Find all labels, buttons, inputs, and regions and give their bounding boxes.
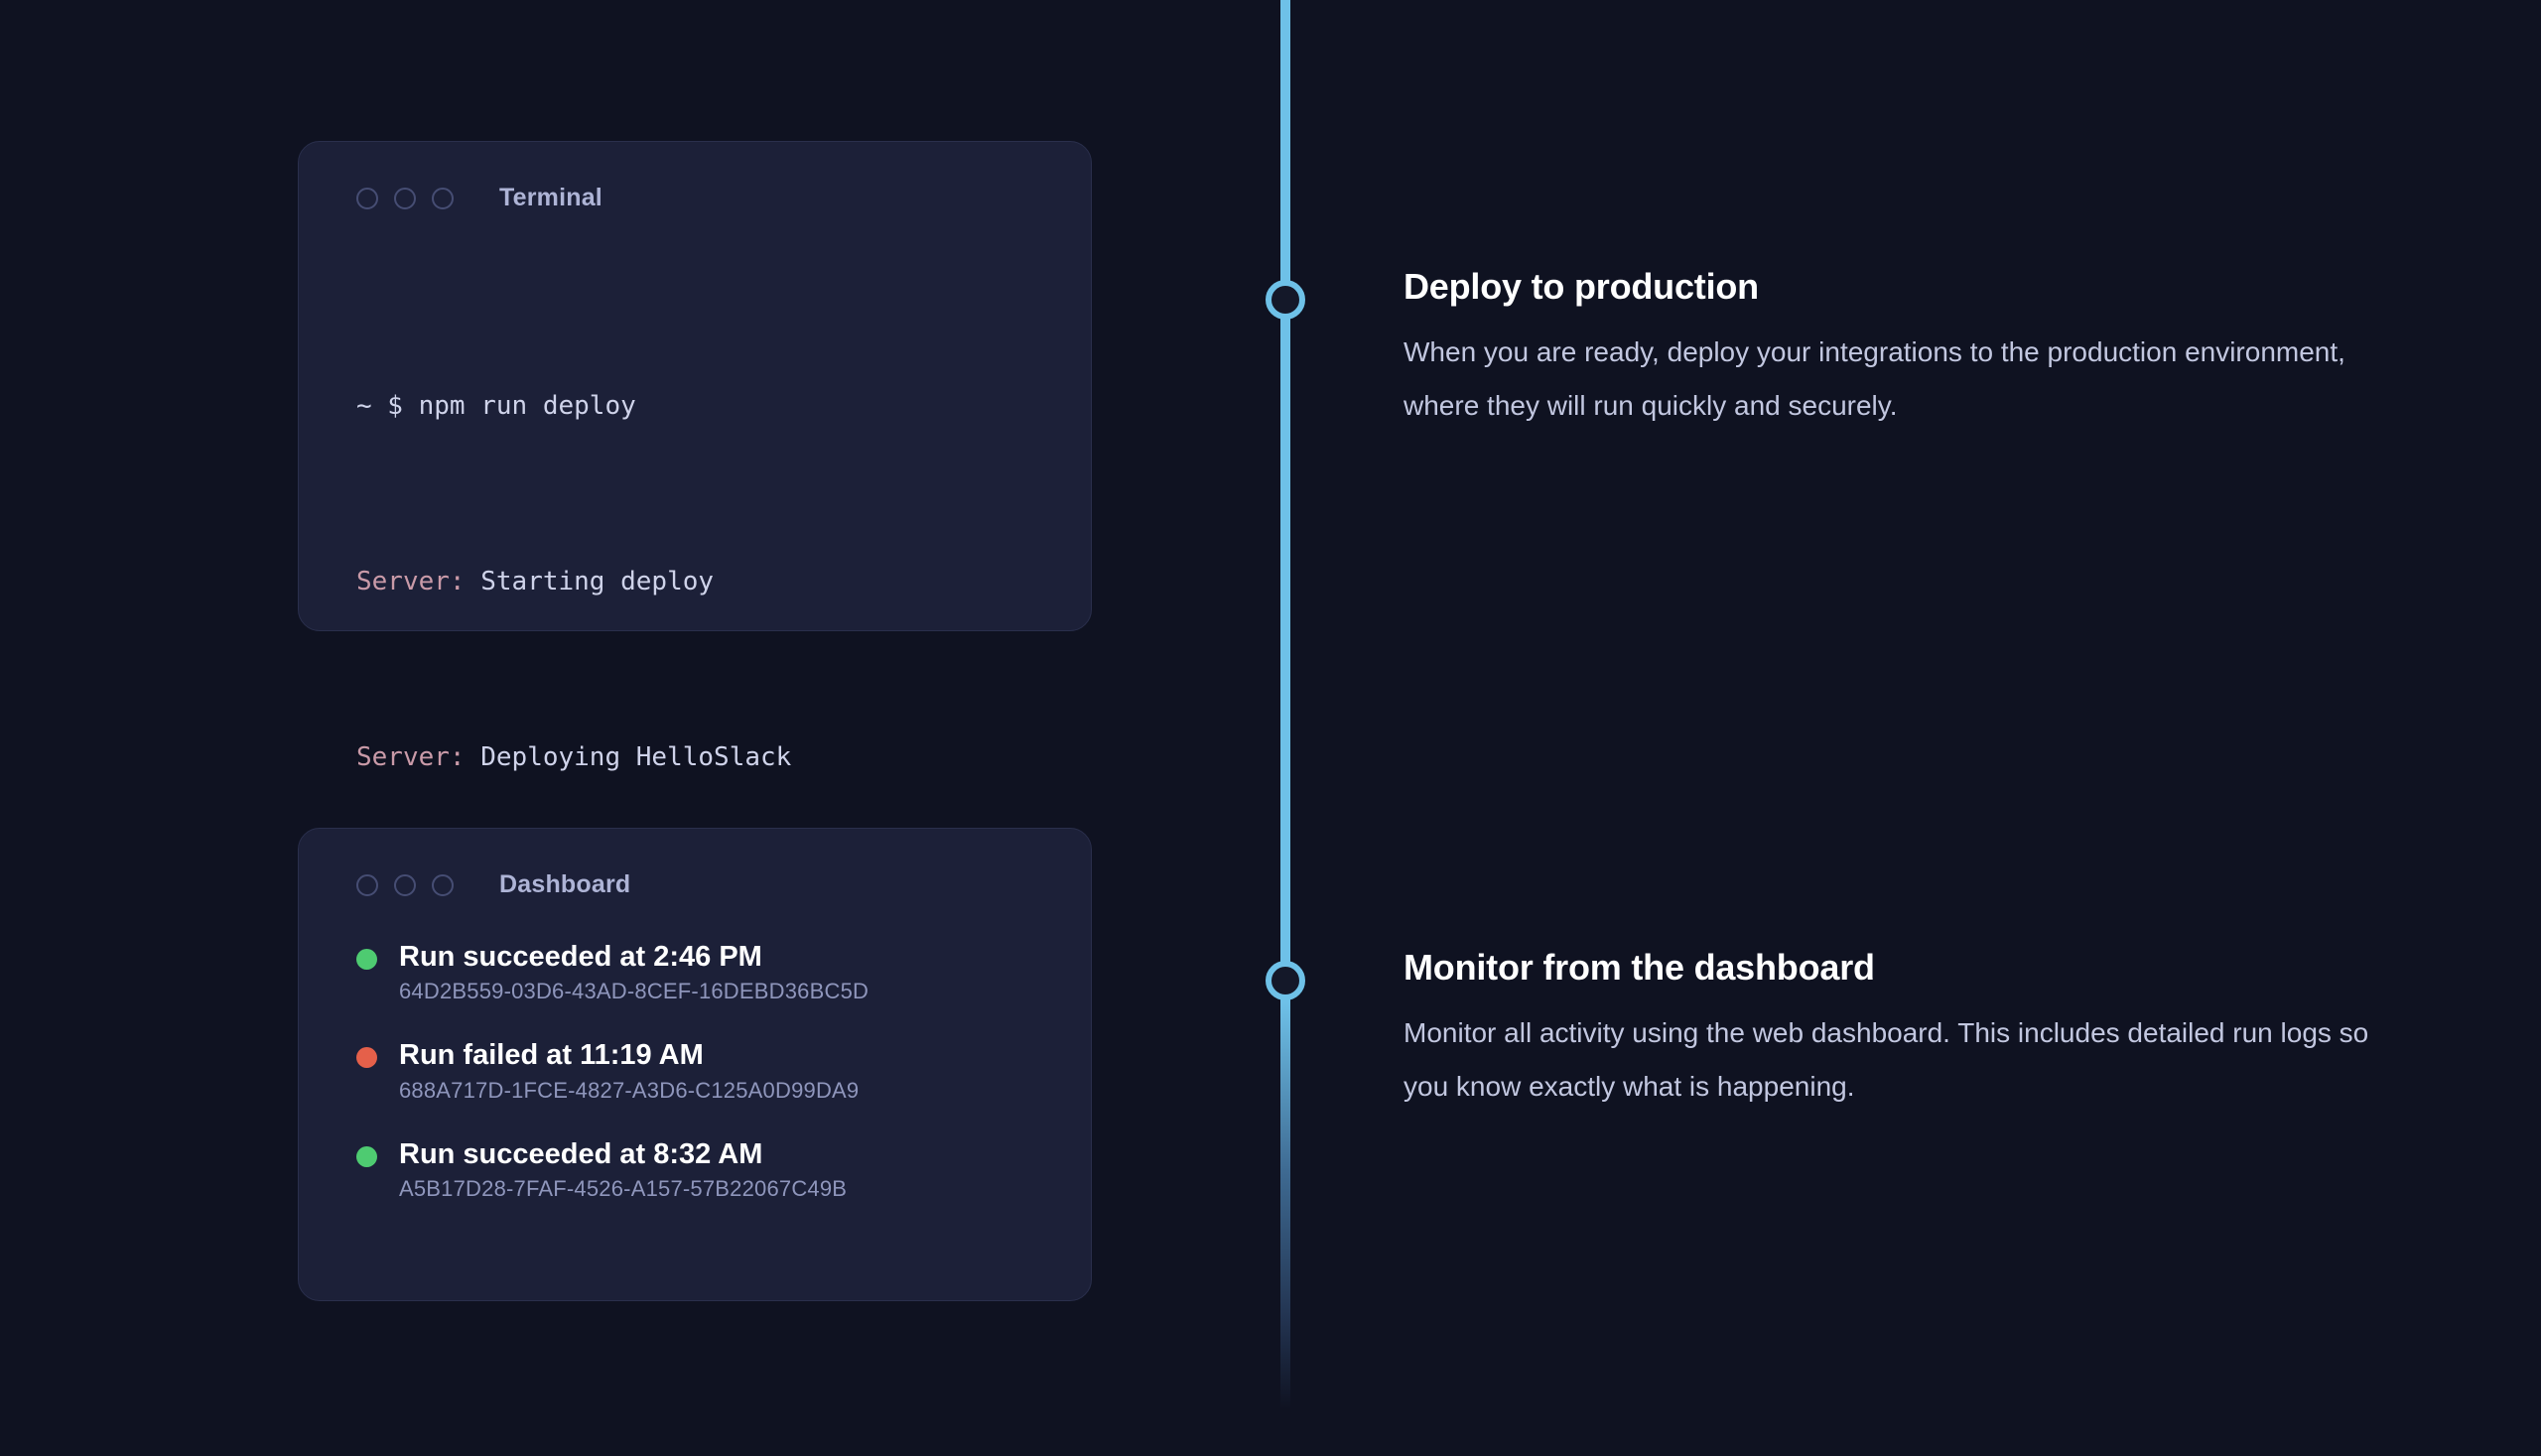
run-id: A5B17D28-7FAF-4526-A157-57B22067C49B	[399, 1176, 847, 1202]
terminal-server-message: Starting deploy	[480, 567, 714, 596]
terminal-line-server-2: Server: Deploying HelloSlack	[356, 728, 1045, 787]
run-text: Run failed at 11:19 AM 688A717D-1FCE-482…	[399, 1037, 859, 1103]
run-title: Run succeeded at 8:32 AM	[399, 1136, 847, 1172]
run-title: Run failed at 11:19 AM	[399, 1037, 859, 1073]
dashboard-card-header: Dashboard	[356, 870, 1045, 899]
window-maximize-icon[interactable]	[432, 188, 454, 209]
window-close-icon[interactable]	[356, 874, 378, 896]
step-monitor-from-dashboard: Monitor from the dashboard Monitor all a…	[1404, 947, 2386, 1114]
window-minimize-icon[interactable]	[394, 874, 416, 896]
list-item[interactable]: Run succeeded at 2:46 PM 64D2B559-03D6-4…	[356, 939, 1045, 1004]
terminal-card-header: Terminal	[356, 184, 1045, 212]
run-title: Run succeeded at 2:46 PM	[399, 939, 869, 975]
dashboard-card-title: Dashboard	[499, 870, 630, 899]
terminal-server-label: Server:	[356, 567, 480, 596]
timeline-line	[1280, 0, 1290, 1409]
status-success-icon	[356, 1146, 377, 1167]
step-title: Deploy to production	[1404, 266, 2386, 308]
run-text: Run succeeded at 8:32 AM A5B17D28-7FAF-4…	[399, 1136, 847, 1202]
run-text: Run succeeded at 2:46 PM 64D2B559-03D6-4…	[399, 939, 869, 1004]
window-maximize-icon[interactable]	[432, 874, 454, 896]
dashboard-card: Dashboard Run succeeded at 2:46 PM 64D2B…	[298, 828, 1092, 1301]
terminal-line-command: ~ $ npm run deploy	[356, 377, 1045, 436]
terminal-prompt: ~ $	[356, 391, 419, 421]
list-item[interactable]: Run succeeded at 8:32 AM A5B17D28-7FAF-4…	[356, 1136, 1045, 1202]
terminal-card-title: Terminal	[499, 184, 602, 212]
terminal-command: npm run deploy	[419, 391, 636, 421]
timeline-marker-deploy	[1266, 280, 1305, 320]
status-success-icon	[356, 949, 377, 970]
terminal-server-message: Deploying HelloSlack	[480, 742, 791, 772]
step-deploy-to-production: Deploy to production When you are ready,…	[1404, 266, 2386, 433]
run-id: 688A717D-1FCE-4827-A3D6-C125A0D99DA9	[399, 1078, 859, 1104]
timeline-marker-monitor	[1266, 961, 1305, 1000]
terminal-line-server-1: Server: Starting deploy	[356, 553, 1045, 611]
run-list: Run succeeded at 2:46 PM 64D2B559-03D6-4…	[356, 939, 1045, 1202]
status-failed-icon	[356, 1047, 377, 1068]
step-title: Monitor from the dashboard	[1404, 947, 2386, 989]
window-minimize-icon[interactable]	[394, 188, 416, 209]
step-description: Monitor all activity using the web dashb…	[1404, 1006, 2386, 1114]
terminal-card: Terminal ~ $ npm run deploy Server: Star…	[298, 141, 1092, 631]
terminal-server-label: Server:	[356, 742, 480, 772]
list-item[interactable]: Run failed at 11:19 AM 688A717D-1FCE-482…	[356, 1037, 1045, 1103]
step-description: When you are ready, deploy your integrat…	[1404, 326, 2386, 433]
window-close-icon[interactable]	[356, 188, 378, 209]
run-id: 64D2B559-03D6-43AD-8CEF-16DEBD36BC5D	[399, 979, 869, 1004]
